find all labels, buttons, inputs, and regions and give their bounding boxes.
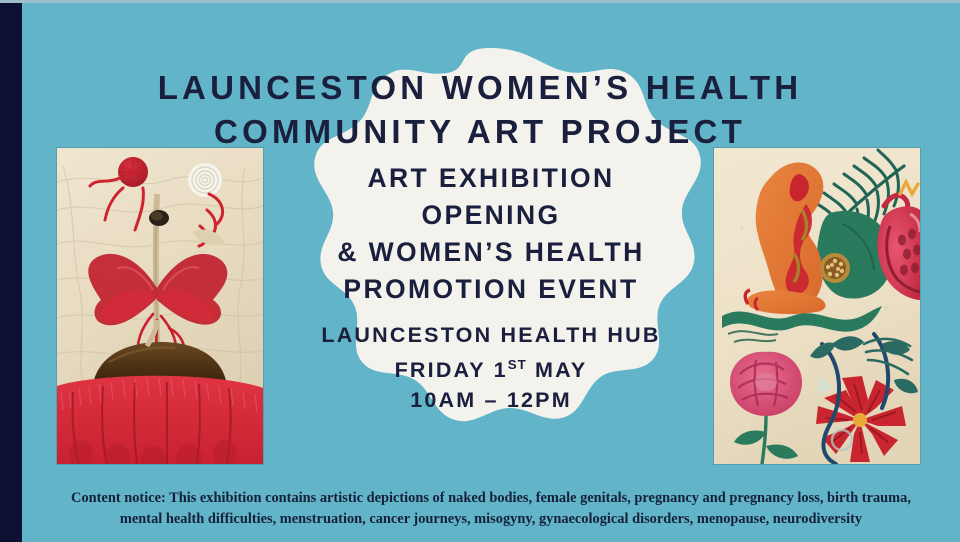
- event-details-block: ART EXHIBITION OPENING & WOMEN’S HEALTH …: [276, 160, 706, 415]
- left-accent-bar: [0, 0, 22, 542]
- artwork-right-painted-figure: [714, 148, 920, 464]
- event-line-1: ART EXHIBITION: [276, 160, 706, 197]
- event-date: FRIDAY 1ST MAY: [276, 350, 706, 385]
- event-line-4: PROMOTION EVENT: [276, 271, 706, 308]
- event-date-prefix: FRIDAY 1: [395, 358, 508, 382]
- event-time: 10AM – 12PM: [276, 385, 706, 415]
- event-venue: LAUNCESTON HEALTH HUB: [276, 320, 706, 350]
- page-title: LAUNCESTON WOMEN’S HEALTH COMMUNITY ART …: [0, 66, 960, 154]
- event-spacer: [276, 308, 706, 320]
- top-hairline-divider: [0, 0, 960, 3]
- content-notice-line-2: mental health difficulties, menstruation…: [22, 509, 960, 530]
- headline-line-1: LAUNCESTON WOMEN’S HEALTH: [0, 66, 960, 110]
- content-notice: Content notice: This exhibition contains…: [22, 488, 960, 530]
- event-line-3: & WOMEN’S HEALTH: [276, 234, 706, 271]
- event-date-suffix: MAY: [527, 358, 588, 382]
- event-line-2: OPENING: [276, 197, 706, 234]
- content-notice-line-1: Content notice: This exhibition contains…: [22, 488, 960, 509]
- event-date-ordinal: ST: [508, 357, 527, 372]
- headline-line-2: COMMUNITY ART PROJECT: [0, 110, 960, 154]
- poster-canvas: LAUNCESTON WOMEN’S HEALTH COMMUNITY ART …: [0, 0, 960, 542]
- artwork-left-textile-flower: [57, 148, 263, 464]
